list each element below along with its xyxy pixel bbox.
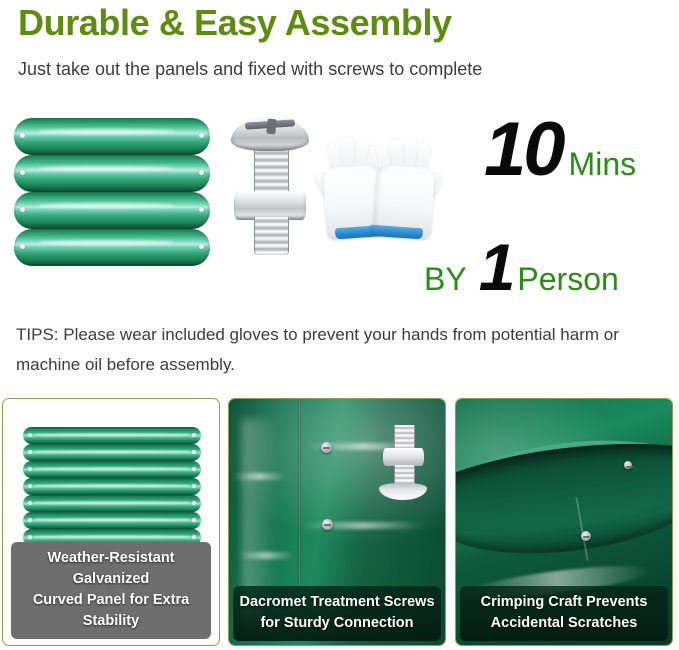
feature-card-list: Weather-Resistant Galvanized Curved Pane… <box>0 398 679 648</box>
assembly-people-unit: Person <box>517 261 618 298</box>
assembly-people: BY1Person <box>424 234 619 304</box>
screw-and-nut-icon <box>231 117 309 255</box>
assembly-time-number: 10 <box>484 112 563 188</box>
page-title: Durable & Easy Assembly <box>18 2 658 44</box>
assembly-time: 10Mins <box>484 112 636 198</box>
corrugated-panel-icon <box>14 118 210 266</box>
tips-text: TIPS: Please wear included gloves to pre… <box>16 320 668 380</box>
screw-detail-icon <box>379 421 427 501</box>
page-subtitle: Just take out the panels and fixed with … <box>18 57 668 81</box>
assembly-people-number: 1 <box>467 234 518 300</box>
caption-line-2: Accidental Scratches <box>464 613 664 634</box>
feature-card-caption: Dacromet Treatment Screws for Sturdy Con… <box>233 586 441 641</box>
caption-line-1: Weather-Resistant Galvanized <box>15 548 207 590</box>
caption-line-2: Curved Panel for Extra Stability <box>15 590 207 632</box>
feature-card-crimping: Crimping Craft Prevents Accidental Scrat… <box>455 398 673 646</box>
infographic-page: Durable & Easy Assembly Just take out th… <box>0 0 679 650</box>
feature-card-caption: Crimping Craft Prevents Accidental Scrat… <box>460 586 668 641</box>
hero-row: 10Mins BY1Person <box>0 100 679 305</box>
assembly-time-unit: Mins <box>563 146 637 183</box>
feature-card-panel: Weather-Resistant Galvanized Curved Pane… <box>2 398 220 646</box>
work-gloves-icon <box>318 128 444 246</box>
feature-card-caption: Weather-Resistant Galvanized Curved Pane… <box>11 542 211 639</box>
caption-line-1: Dacromet Treatment Screws <box>237 592 437 613</box>
assembly-people-prefix: BY <box>424 261 467 298</box>
caption-line-1: Crimping Craft Prevents <box>464 592 664 613</box>
feature-card-screws: Dacromet Treatment Screws for Sturdy Con… <box>228 398 446 646</box>
caption-line-2: for Sturdy Connection <box>237 613 437 634</box>
